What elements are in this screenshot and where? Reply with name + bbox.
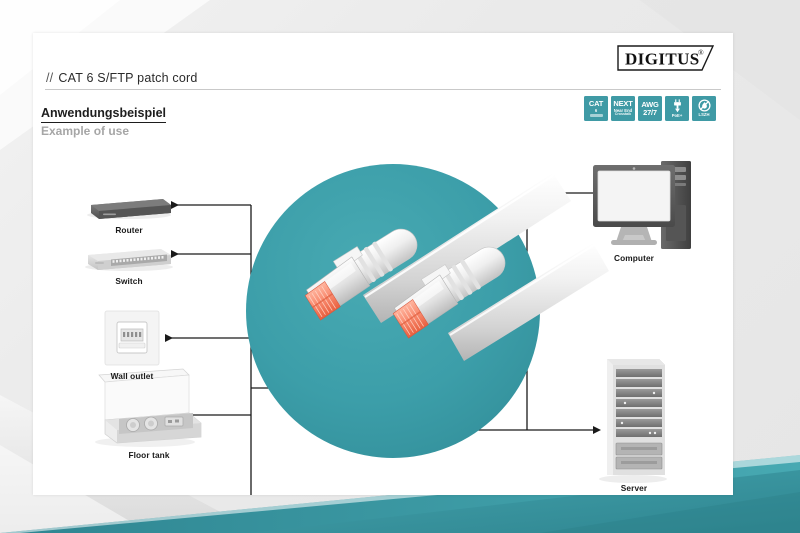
lszh-badge: LSZH xyxy=(692,96,716,121)
screenshot-root: DIGITUS ® //CAT 6 S/FTP patch cord Anwen… xyxy=(0,0,800,533)
floor-tank-label: Floor tank xyxy=(128,450,169,460)
lszh-badge-sub: LSZH xyxy=(699,113,710,117)
header-divider xyxy=(45,89,721,90)
wall-outlet-icon xyxy=(105,311,159,365)
wall-outlet-label: Wall outlet xyxy=(111,371,154,381)
content-card: DIGITUS ® //CAT 6 S/FTP patch cord Anwen… xyxy=(33,33,733,495)
next-badge-sub2: Crosstalk xyxy=(615,113,631,117)
switch-label: Switch xyxy=(115,276,142,286)
no-flame-icon xyxy=(698,99,711,112)
computer-icon xyxy=(593,161,691,249)
next-badge-main: NEXT xyxy=(613,100,632,108)
server-label: Server xyxy=(621,483,647,493)
cat6-badge-sub: 6 xyxy=(595,109,597,113)
computer-label: Computer xyxy=(614,253,654,263)
diagram-canvas xyxy=(33,143,733,495)
switch-icon xyxy=(85,249,173,271)
title-slashes: // xyxy=(46,71,53,85)
logo-registered-mark: ® xyxy=(698,48,704,57)
awg-badge: AWG 27/7 xyxy=(638,96,662,121)
section-title-english: Example of use xyxy=(41,125,129,138)
page-title: //CAT 6 S/FTP patch cord xyxy=(46,71,198,85)
cat6-badge-underline xyxy=(590,114,603,117)
logo-wordmark: DIGITUS xyxy=(625,50,700,69)
next-badge: NEXT Near End Crosstalk xyxy=(611,96,635,121)
title-text: CAT 6 S/FTP patch cord xyxy=(58,71,197,85)
cat6-badge-main: CAT xyxy=(589,100,603,108)
product-photo xyxy=(246,164,609,458)
server-icon xyxy=(599,359,667,483)
poe-badge-sub: PoE+ xyxy=(672,114,683,118)
digitus-logo: DIGITUS ® xyxy=(616,43,716,73)
application-diagram: Router Switch Wall outlet Floor tank Com… xyxy=(33,143,733,495)
awg-badge-sub: 27/7 xyxy=(643,109,657,117)
section-title-german: Anwendungsbeispiel xyxy=(41,107,166,123)
router-icon xyxy=(87,199,171,219)
server-bays xyxy=(616,369,662,437)
cat6-badge: CAT 6 xyxy=(584,96,608,121)
feature-badge-row: CAT 6 NEXT Near End Crosstalk AWG 27/7 xyxy=(584,96,716,121)
poe-plug-icon xyxy=(672,99,683,113)
poe-badge: PoE+ xyxy=(665,96,689,121)
router-label: Router xyxy=(115,225,142,235)
